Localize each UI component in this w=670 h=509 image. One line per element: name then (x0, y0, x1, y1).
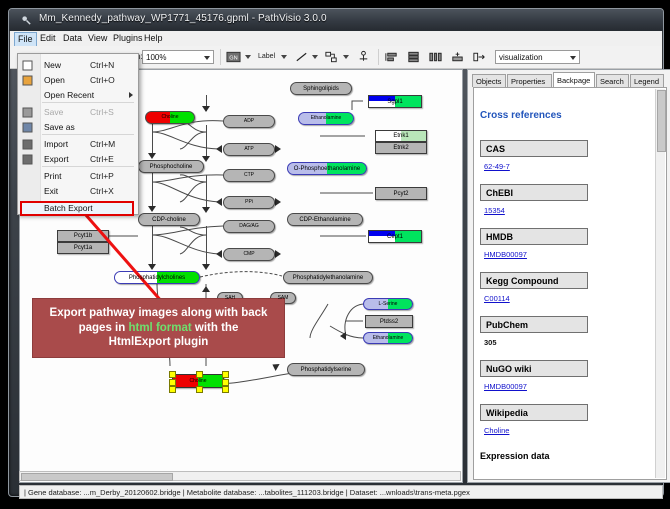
db-header-pubchem: PubChem (480, 316, 588, 333)
datanode-dropdown-icon[interactable] (245, 55, 251, 59)
node-label: Ethanolamine (373, 336, 404, 341)
backpage-vertical-scrollbar[interactable] (655, 89, 665, 478)
file-menu-label: Open Recent (44, 90, 94, 100)
toolbar-separator-2 (378, 49, 379, 65)
expression-data-heading: Expression data (480, 451, 550, 461)
open-folder-icon (22, 75, 34, 86)
node-label: Ptdss2 (380, 319, 398, 325)
db-value-wikipedia[interactable]: Choline (484, 426, 509, 435)
file-menu-label: New (44, 60, 61, 70)
node-label: Sphingolipids (303, 86, 339, 92)
file-menu-item-new[interactable]: NewCtrl+N (18, 58, 138, 73)
file-menu-label: Open (44, 75, 65, 85)
bring-front-button[interactable] (472, 50, 487, 64)
tab-search[interactable]: Search (596, 74, 629, 87)
db-value-cas[interactable]: 62-49-7 (484, 162, 510, 171)
label-dropdown-icon[interactable] (281, 55, 287, 59)
interaction-dropdown-icon[interactable] (343, 55, 349, 59)
node-label: ADP (244, 119, 254, 124)
node-label: Etnk1 (393, 133, 408, 139)
datanode-tool-button[interactable]: GN (226, 50, 241, 64)
node-label: Sgpl1 (387, 99, 402, 105)
node-label: CDP-Ethanolamine (299, 217, 350, 223)
node-label: CMP (243, 252, 254, 257)
align-left-button[interactable] (384, 50, 399, 64)
file-menu-item-save[interactable]: SaveCtrl+S (18, 105, 138, 120)
node-label: Choline (162, 115, 179, 120)
node-label: Phosphatidylcholines (129, 275, 185, 281)
import-icon (22, 139, 34, 150)
canvas-hscroll-thumb[interactable] (21, 473, 173, 481)
chevron-down-icon-2 (570, 56, 576, 60)
menu-help[interactable]: Help (140, 32, 167, 45)
node-label: Pcyt1b (74, 233, 92, 239)
node-label: SAM (278, 296, 289, 301)
node-label: CDP-choline (152, 217, 186, 223)
node-label: L-Serine (379, 302, 398, 307)
file-menu-label: Save (44, 107, 63, 117)
distribute-button[interactable] (428, 50, 443, 64)
node-label: Phosphocholine (150, 164, 193, 170)
node-label: Phosphatidylserine (301, 367, 352, 373)
db-value-hmdb[interactable]: HMDB00097 (484, 250, 527, 259)
common-size-button[interactable] (450, 50, 465, 64)
file-menu-accelerator: Ctrl+O (90, 75, 115, 85)
tab-legend[interactable]: Legend (630, 74, 664, 87)
db-header-nugo-wiki: NuGO wiki (480, 360, 588, 377)
zoom-combobox[interactable]: 100% (142, 50, 214, 64)
file-menu-item-exit[interactable]: ExitCtrl+X (18, 184, 138, 199)
tab-properties[interactable]: Properties (507, 74, 552, 87)
node-label: Pcyt1a (74, 245, 92, 251)
export-icon (22, 154, 34, 165)
menu-edit[interactable]: Edit (36, 32, 60, 45)
side-panel: Objects Properties Backpage Search Legen… (467, 69, 670, 483)
file-menu-accelerator: Ctrl+N (90, 60, 114, 70)
visualization-value: visualization (499, 53, 543, 62)
node-label: Etnk2 (393, 145, 408, 151)
callout-line1: Export pathway images along with back (50, 307, 268, 319)
chevron-down-icon (204, 56, 210, 60)
zoom-value: 100% (146, 53, 166, 62)
node-label: CTP (244, 173, 254, 178)
line-tool-button[interactable] (294, 50, 309, 64)
save-disk-icon (22, 107, 34, 118)
menu-view[interactable]: View (84, 32, 111, 45)
db-value-kegg-compound[interactable]: C00114 (484, 294, 510, 303)
file-menu-accelerator: Ctrl+P (90, 171, 114, 181)
backpage-vscroll-thumb[interactable] (657, 90, 666, 152)
pathvisio-icon (21, 15, 32, 26)
db-header-hmdb: HMDB (480, 228, 588, 245)
file-menu-label: Print (44, 171, 61, 181)
anchor-tool-button[interactable] (356, 50, 371, 64)
file-menu-item-print[interactable]: PrintCtrl+P (18, 169, 138, 184)
node-label: DAG/AG (239, 224, 258, 229)
file-menu-item-export[interactable]: ExportCtrl+E (18, 152, 138, 167)
visualization-combobox[interactable]: visualization (495, 50, 580, 64)
tab-objects[interactable]: Objects (472, 74, 506, 87)
file-menu-accelerator: Ctrl+X (90, 186, 114, 196)
backpage-content[interactable]: Cross references CAS62-49-7ChEBI15354HMD… (473, 87, 667, 480)
node-label: Ethanolamine (311, 116, 342, 121)
new-file-icon (22, 60, 34, 71)
window-title: Mm_Kennedy_pathway_WP1771_45176.gpml - P… (39, 13, 327, 24)
file-menu-item-save-as[interactable]: Save as (18, 120, 138, 135)
canvas-horizontal-scrollbar[interactable] (19, 471, 461, 481)
save-as-icon (22, 122, 34, 133)
application-window: Mm_Kennedy_pathway_WP1771_45176.gpml - P… (8, 8, 664, 497)
title-bar: Mm_Kennedy_pathway_WP1771_45176.gpml - P… (9, 9, 663, 31)
screenshot-root: Mm_Kennedy_pathway_WP1771_45176.gpml - P… (0, 0, 670, 509)
callout-line2-post: with the (192, 322, 239, 334)
cross-references-heading: Cross references (480, 110, 562, 121)
db-header-chebi: ChEBI (480, 184, 588, 201)
file-menu-label: Exit (44, 186, 58, 196)
node-label: Phosphatidylethanolamine (293, 275, 363, 281)
node-label: PPi (245, 200, 253, 205)
db-header-cas: CAS (480, 140, 588, 157)
callout-line2-pre: pages in (79, 322, 129, 334)
align-stack-button[interactable] (406, 50, 421, 64)
label-tool-button[interactable]: Label (258, 53, 275, 60)
file-menu-item-batch-export[interactable]: Batch Export (18, 201, 138, 216)
node-label: Choline (190, 379, 207, 384)
db-header-wikipedia: Wikipedia (480, 404, 588, 421)
interaction-tool-button[interactable] (324, 50, 339, 64)
file-menu-item-open-recent[interactable]: Open Recent (18, 88, 138, 103)
db-value-chebi[interactable]: 15354 (484, 206, 505, 215)
toolbar-separator (220, 49, 221, 65)
submenu-arrow-icon (129, 92, 133, 98)
node-label: Pcyt2 (393, 191, 408, 197)
menu-bar: File Edit Data View Plugins Help (10, 31, 662, 47)
file-menu-accelerator: Ctrl+M (90, 139, 115, 149)
db-header-kegg-compound: Kegg Compound (480, 272, 588, 289)
db-value-nugo-wiki[interactable]: HMDB00097 (484, 382, 527, 391)
line-dropdown-icon[interactable] (312, 55, 318, 59)
callout-line3: HtmlExport plugin (109, 336, 209, 348)
file-menu-accelerator: Ctrl+S (90, 107, 114, 117)
file-menu-label: Export (44, 154, 69, 164)
file-menu-accelerator: Ctrl+E (90, 154, 114, 164)
node-label: ATP (244, 147, 253, 152)
file-menu-item-import[interactable]: ImportCtrl+M (18, 137, 138, 152)
menu-data[interactable]: Data (59, 32, 86, 45)
status-bar-text: | Gene database: ...m_Derby_20120602.bri… (24, 488, 470, 497)
file-menu-item-open[interactable]: OpenCtrl+O (18, 73, 138, 88)
annotation-callout: Export pathway images along with back pa… (32, 298, 285, 358)
callout-line2-green: html format (128, 322, 191, 334)
file-menu-popup[interactable]: NewCtrl+NOpenCtrl+OOpen RecentSaveCtrl+S… (17, 53, 139, 215)
db-value-pubchem: 305 (484, 338, 497, 347)
menu-file[interactable]: File (14, 32, 37, 47)
node-label: O-Phosphoethanolamine (294, 166, 360, 172)
node-label: Cept1 (387, 234, 403, 240)
tab-backpage[interactable]: Backpage (553, 72, 595, 87)
file-menu-label: Import (44, 139, 68, 149)
status-bar: | Gene database: ...m_Derby_20120602.bri… (19, 485, 663, 499)
file-menu-label: Save as (44, 122, 75, 132)
file-menu-label: Batch Export (44, 203, 93, 213)
node-label: SAH (225, 296, 235, 301)
side-panel-tabs: Objects Properties Backpage Search Legen… (472, 72, 668, 87)
svg-text:GN: GN (229, 55, 237, 61)
